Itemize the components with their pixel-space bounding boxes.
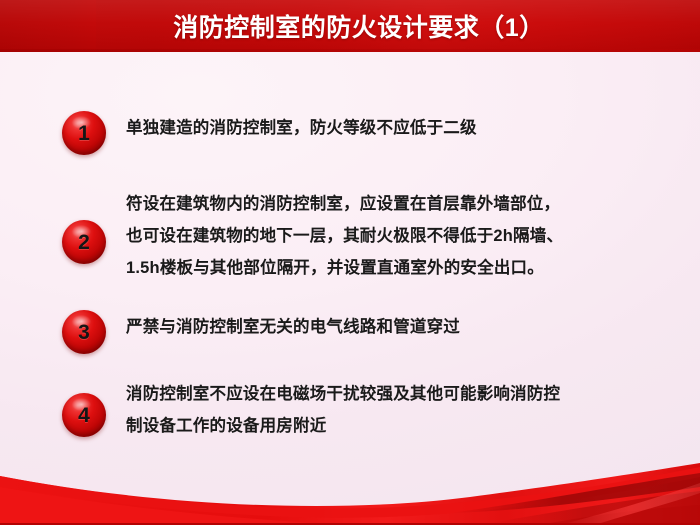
list-item-text-2: 符设在建筑物内的消防控制室，应设置在首层靠外墙部位， 也可设在建筑物的地下一层，…	[126, 187, 563, 284]
list-item-text-4: 消防控制室不应设在电磁场干扰较强及其他可能影响消防控 制设备工作的设备用房附近	[126, 377, 560, 442]
number-badge-1: 1	[62, 111, 106, 155]
text-line: 单独建造的消防控制室，防火等级不应低于二级	[126, 112, 477, 144]
slide: 消防控制室的防火设计要求（1） 1 单独建造的消防控制室，防火等级不应低于二级 …	[0, 0, 700, 525]
number-badge-label: 4	[78, 405, 90, 426]
number-badge-2: 2	[62, 220, 106, 264]
text-line: 符设在建筑物内的消防控制室，应设置在首层靠外墙部位，	[126, 188, 563, 220]
list-item-text-3: 严禁与消防控制室无关的电气线路和管道穿过	[126, 310, 460, 343]
page-title: 消防控制室的防火设计要求（1）	[0, 0, 700, 52]
number-badge-3: 3	[62, 310, 106, 354]
title-bar: 消防控制室的防火设计要求（1）	[0, 0, 700, 52]
text-line: 1.5h楼板与其他部位隔开，并设置直通室外的安全出口。	[126, 252, 563, 284]
number-badge-label: 2	[78, 232, 90, 253]
text-line: 制设备工作的设备用房附近	[126, 410, 560, 442]
number-badge-label: 3	[78, 322, 90, 343]
ribbon-graphic	[0, 453, 700, 525]
text-line: 也可设在建筑物的地下一层，其耐火极限不得低于2h隔墙、	[126, 220, 563, 252]
number-badge-label: 1	[78, 123, 90, 144]
list-item: 3 严禁与消防控制室无关的电气线路和管道穿过	[62, 310, 672, 354]
red-ribbon-swoosh	[0, 453, 700, 525]
list-item: 2 符设在建筑物内的消防控制室，应设置在首层靠外墙部位， 也可设在建筑物的地下一…	[62, 187, 672, 284]
number-badge-4: 4	[62, 393, 106, 437]
list-item: 4 消防控制室不应设在电磁场干扰较强及其他可能影响消防控 制设备工作的设备用房附…	[62, 377, 672, 442]
text-line: 消防控制室不应设在电磁场干扰较强及其他可能影响消防控	[126, 378, 560, 410]
text-line: 严禁与消防控制室无关的电气线路和管道穿过	[126, 311, 460, 343]
list-item-text-1: 单独建造的消防控制室，防火等级不应低于二级	[126, 111, 477, 144]
content-list: 1 单独建造的消防控制室，防火等级不应低于二级 2 符设在建筑物内的消防控制室，…	[0, 52, 700, 452]
list-item: 1 单独建造的消防控制室，防火等级不应低于二级	[62, 111, 672, 155]
